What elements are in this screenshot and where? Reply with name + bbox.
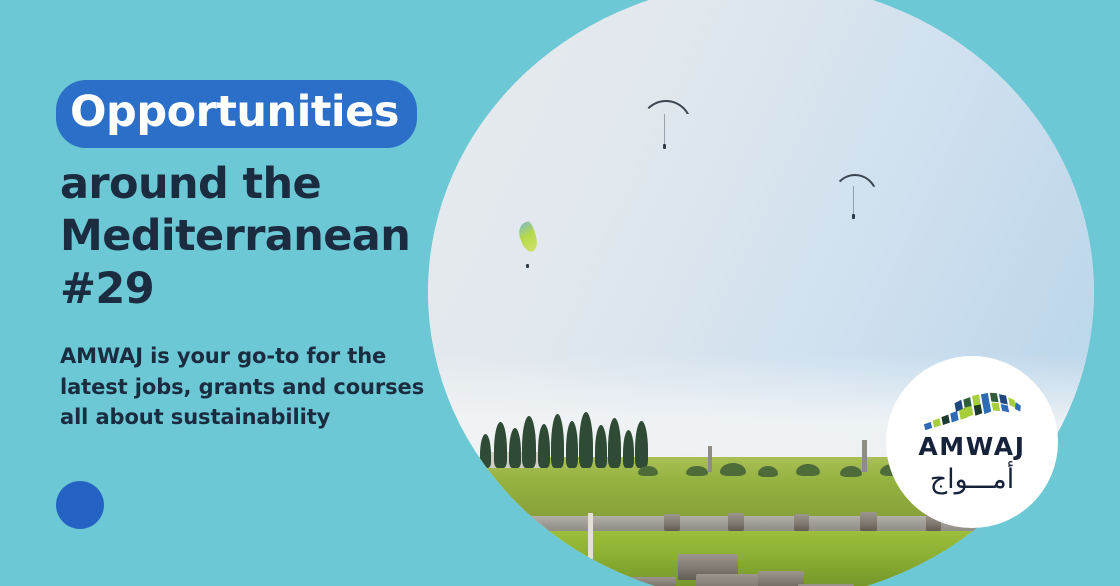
amwaj-arabic-wordmark: أمـــواج bbox=[930, 465, 1015, 495]
cypress-tree-group bbox=[476, 408, 676, 468]
cypress-tree bbox=[551, 414, 564, 468]
cypress-tree bbox=[566, 421, 578, 468]
shrub bbox=[840, 466, 862, 477]
cypress-tree bbox=[595, 425, 607, 468]
headline-line-2: Mediterranean bbox=[60, 210, 446, 262]
cypress-tree bbox=[538, 424, 550, 468]
cypress-tree bbox=[522, 416, 536, 468]
paraglider-canopy bbox=[640, 100, 692, 126]
headline-issue-number: #29 bbox=[60, 263, 446, 315]
paraglider-pilot bbox=[852, 214, 855, 219]
paraglider-dark-upper-icon bbox=[640, 100, 688, 122]
opportunities-pill: Opportunities bbox=[56, 80, 417, 148]
cypress-tree bbox=[635, 421, 648, 468]
amwaj-logo-badge: AMWAJ أمـــواج bbox=[886, 356, 1058, 528]
amwaj-wordmark: AMWAJ bbox=[918, 434, 1025, 459]
stone-stump bbox=[860, 512, 877, 531]
paraglider-pilot bbox=[663, 144, 666, 149]
cypress-tree bbox=[509, 428, 521, 468]
newsletter-banner: Opportunities around the Mediterranean #… bbox=[0, 0, 1120, 586]
paraglider-canopy bbox=[832, 174, 878, 198]
cypress-tree bbox=[494, 422, 507, 468]
cypress-tree bbox=[480, 434, 491, 468]
ruin-block bbox=[758, 571, 804, 586]
stone-stump bbox=[664, 514, 680, 531]
stone-column bbox=[862, 440, 867, 472]
shrub bbox=[686, 466, 708, 476]
cypress-tree bbox=[579, 412, 593, 468]
path-marker-post bbox=[588, 513, 593, 561]
body-paragraph: AMWAJ is your go-to for the latest jobs,… bbox=[60, 341, 430, 432]
paraglider-dark-right-icon bbox=[832, 174, 874, 194]
shrub bbox=[758, 466, 778, 477]
stone-stump bbox=[794, 514, 809, 531]
amwaj-wave-mosaic-icon bbox=[919, 390, 1025, 430]
paraglider-canopy bbox=[517, 221, 539, 254]
cypress-tree bbox=[608, 418, 621, 468]
stone-stump bbox=[728, 513, 744, 531]
paraglider-green-icon bbox=[520, 222, 542, 256]
paraglider-lines bbox=[664, 114, 665, 144]
decorative-blue-dot bbox=[56, 481, 104, 529]
ruin-block bbox=[624, 577, 676, 586]
paraglider-pilot bbox=[526, 264, 529, 268]
text-column: Opportunities around the Mediterranean #… bbox=[56, 80, 446, 433]
paraglider-lines bbox=[853, 186, 854, 214]
cypress-tree bbox=[623, 430, 634, 468]
headline-line-1: around the bbox=[60, 158, 446, 210]
shrub bbox=[638, 466, 658, 476]
stone-column bbox=[708, 446, 712, 472]
page-title: around the Mediterranean #29 bbox=[60, 158, 446, 315]
